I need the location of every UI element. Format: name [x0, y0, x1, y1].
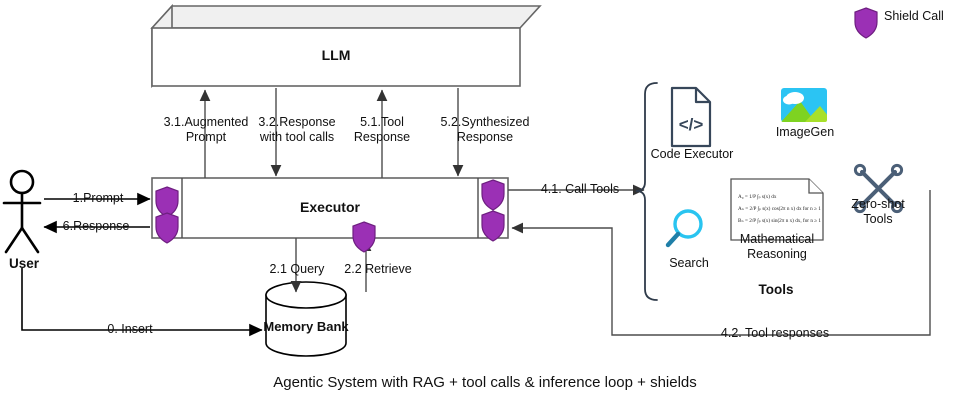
tools-brace [636, 83, 657, 300]
svg-text:A₀ = 1/P ∫ₚ s(x) dx: A₀ = 1/P ∫ₚ s(x) dx [738, 193, 777, 200]
edge-label-6-response: 6.Response [42, 219, 150, 234]
edge-label-42-tool-responses: 4.2. Tool responses [690, 326, 860, 341]
user-node [4, 171, 40, 252]
user-label: User [0, 256, 48, 271]
code-document-icon: </> [672, 88, 710, 146]
diagram-canvas: </> A₀ = 1/P ∫ₚ s(x) dx Aₙ = 2/P ∫ₚ s(x)… [0, 0, 970, 411]
diagram-caption: Agentic System with RAG + tool calls & i… [0, 375, 970, 390]
image-icon [781, 88, 833, 122]
executor-label: Executor [280, 200, 380, 215]
edge-label-22-retrieve: 2.2 Retrieve [330, 262, 426, 277]
svg-text:</>: </> [679, 115, 704, 134]
tool-label-search: Search [658, 256, 720, 271]
edge-label-51-tool-response: 5.1.Tool Response [334, 115, 430, 145]
edge-label-52-synthesized-response: 5.2.Synthesized Response [420, 115, 550, 145]
svg-text:Aₙ = 2/P ∫ₚ s(x) cos(2π n x) d: Aₙ = 2/P ∫ₚ s(x) cos(2π n x) dx for n ≥ … [738, 205, 821, 212]
magnifier-icon [668, 211, 701, 245]
shield-icon [855, 8, 877, 38]
tool-label-zero-shot-tools: Zero-shot Tools [838, 197, 918, 227]
edge-label-0-insert: 0. Insert [60, 322, 200, 337]
tools-group-label: Tools [736, 282, 816, 297]
edge-label-21-query: 2.1 Query [254, 262, 340, 277]
legend-label: Shield Call [884, 9, 970, 24]
tool-label-code-executor: Code Executor [645, 147, 739, 162]
edge-label-1-prompt: 1.Prompt [46, 191, 150, 206]
llm-label: LLM [286, 48, 386, 63]
llm-node [152, 6, 540, 86]
tool-label-imagegen: ImageGen [770, 125, 840, 140]
formula-document-icon: A₀ = 1/P ∫ₚ s(x) dx Aₙ = 2/P ∫ₚ s(x) cos… [731, 179, 823, 240]
memory-bank-label: Memory Bank [256, 319, 356, 334]
edge-0-insert [22, 268, 262, 330]
shield-icon [353, 222, 375, 252]
edge-label-41-call-tools: 4.1. Call Tools [528, 182, 632, 197]
svg-text:Bₙ = 2/P ∫ₚ s(x) sin(2π n x) d: Bₙ = 2/P ∫ₚ s(x) sin(2π n x) dx, for n ≥… [738, 217, 821, 224]
tool-label-mathematical-reasoning: Mathematical Reasoning [727, 232, 827, 262]
